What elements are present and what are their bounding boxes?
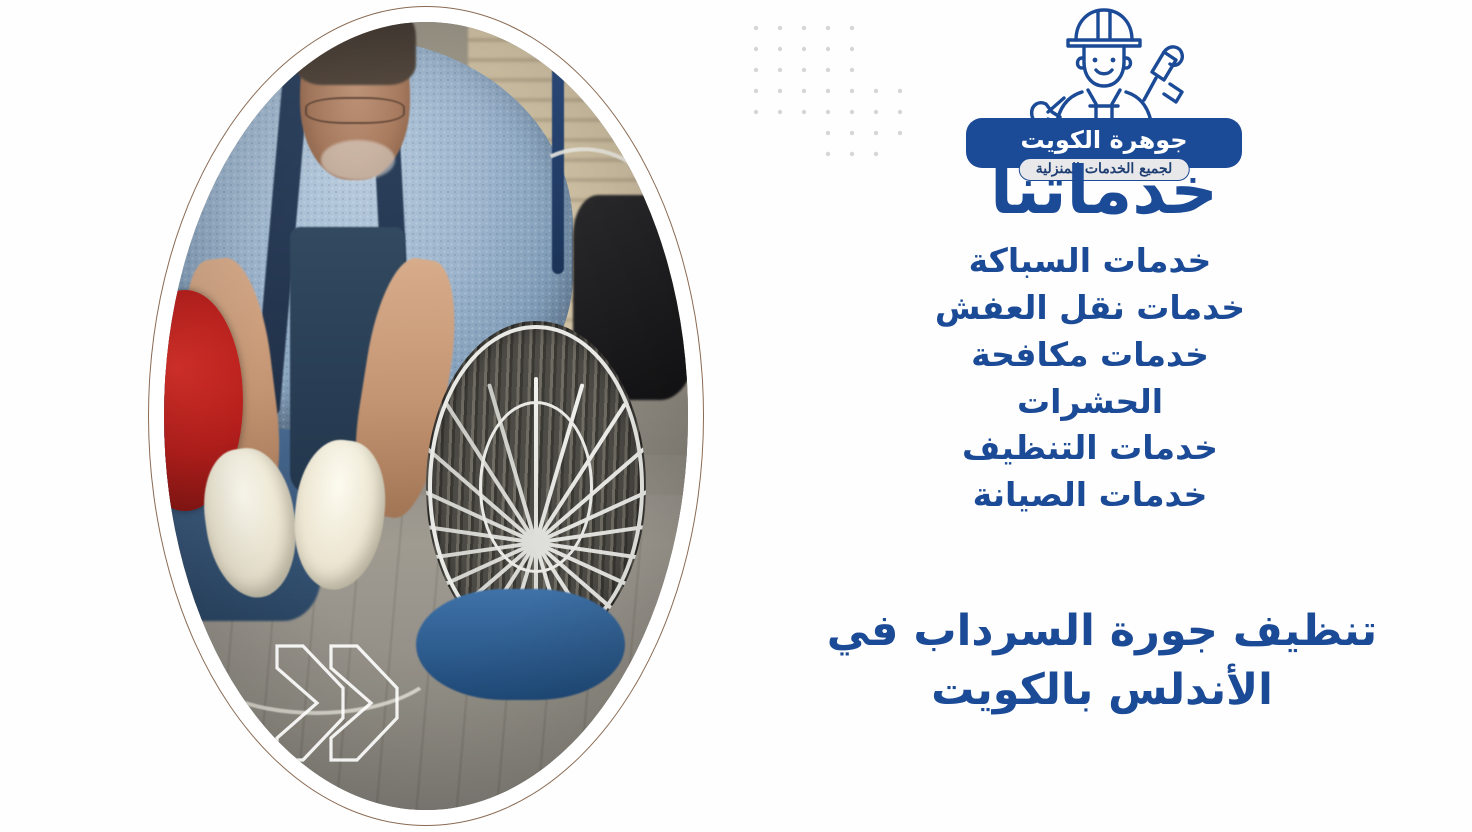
service-item[interactable]: خدمات السباكة: [880, 238, 1300, 285]
photo-frame: [148, 6, 704, 826]
content-pane: جوهرة الكويت لجميع الخدمات المنزلية خدما…: [736, 0, 1472, 832]
services-heading: خدماتنا: [736, 158, 1472, 224]
service-item[interactable]: خدمات نقل العفش: [880, 285, 1300, 332]
services-list: خدمات السباكة خدمات نقل العفش خدمات مكاف…: [880, 238, 1300, 519]
service-item[interactable]: خدمات الصيانة: [880, 472, 1300, 519]
poster-canvas: جوهرة الكويت لجميع الخدمات المنزلية خدما…: [0, 0, 1472, 832]
worker-hardhat-wrench-icon: [1004, 0, 1204, 132]
service-item[interactable]: خدمات مكافحة: [880, 332, 1300, 379]
page-title: تنظيف جورة السرداب في الأندلس بالكويت: [792, 602, 1412, 721]
double-chevron-right-icon: [269, 628, 419, 778]
service-item[interactable]: الحشرات: [880, 379, 1300, 426]
service-item[interactable]: خدمات التنظيف: [880, 425, 1300, 472]
service-photo: [164, 22, 688, 810]
photo-vignette: [164, 22, 688, 810]
brand-logo[interactable]: جوهرة الكويت لجميع الخدمات المنزلية: [736, 0, 1472, 168]
brand-name: جوهرة الكويت: [1020, 126, 1187, 154]
